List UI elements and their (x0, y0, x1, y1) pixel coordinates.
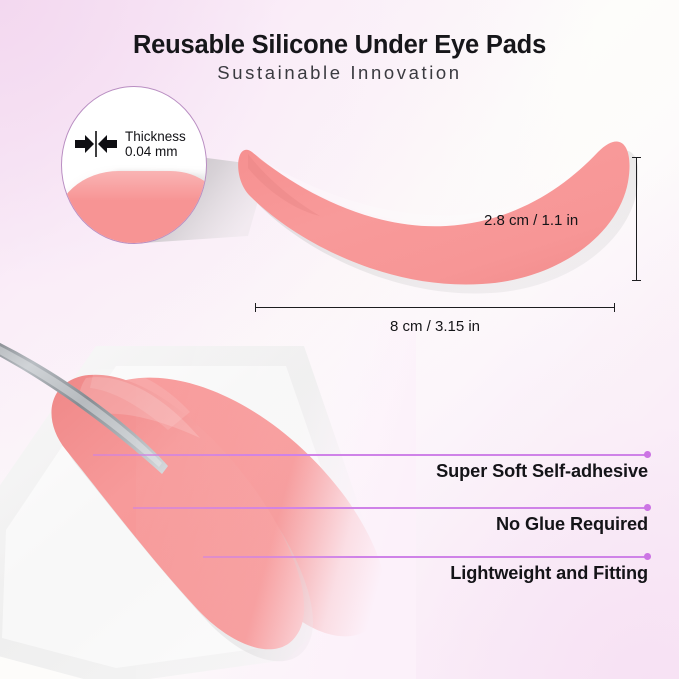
feature-label: No Glue Required (496, 514, 648, 535)
product-photo (0, 320, 416, 679)
height-dimension-line (632, 157, 641, 281)
width-dimension-line (255, 303, 615, 312)
thickness-magnifier: Thickness 0.04 mm (61, 86, 207, 244)
width-dimension-label: 8 cm / 3.15 in (255, 318, 615, 335)
infographic-canvas: Reusable Silicone Under Eye Pads Sustain… (0, 0, 679, 679)
thickness-arrows-icon (75, 131, 117, 157)
thickness-label: Thickness (125, 129, 186, 144)
feature-dot-icon (644, 553, 651, 560)
feature-leader-line (93, 454, 648, 456)
feature-label: Super Soft Self-adhesive (436, 461, 648, 482)
height-cap-bottom (632, 280, 641, 281)
thickness-text: Thickness 0.04 mm (125, 129, 186, 159)
page-title: Reusable Silicone Under Eye Pads (0, 31, 679, 60)
feature-dot-icon (644, 504, 651, 511)
thickness-value: 0.04 mm (125, 144, 186, 159)
feature-dot-icon (644, 451, 651, 458)
feature-label: Lightweight and Fitting (450, 563, 648, 584)
height-dimension-label: 2.8 cm / 1.1 in (484, 212, 578, 229)
feature-leader-line (133, 507, 648, 509)
feature-leader-line (203, 556, 648, 558)
page-subtitle: Sustainable Innovation (0, 62, 679, 84)
height-bar (636, 157, 637, 281)
thickness-annotation: Thickness 0.04 mm (75, 129, 186, 159)
width-cap-right (614, 303, 615, 312)
magnified-pad-edge (61, 171, 207, 244)
width-bar (255, 307, 615, 308)
